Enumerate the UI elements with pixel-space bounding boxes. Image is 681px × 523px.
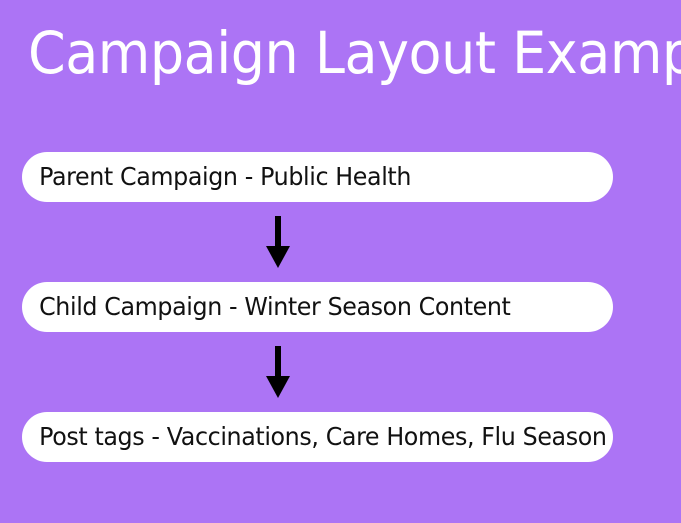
arrow-stem — [275, 346, 281, 378]
slide-canvas: Campaign Layout Example Parent Campaign … — [0, 0, 681, 523]
flow-node-parent-campaign[interactable]: Parent Campaign - Public Health — [22, 152, 613, 202]
flow-diagram: Parent Campaign - Public Health Child Ca… — [22, 152, 613, 462]
flow-connector-1 — [22, 202, 613, 282]
arrow-down-icon — [266, 216, 290, 268]
flow-node-label: Child Campaign - Winter Season Content — [22, 292, 510, 322]
flow-node-child-campaign[interactable]: Child Campaign - Winter Season Content — [22, 282, 613, 332]
flow-node-label: Parent Campaign - Public Health — [22, 162, 411, 192]
flow-node-post-tags[interactable]: Post tags - Vaccinations, Care Homes, Fl… — [22, 412, 613, 462]
flow-connector-2 — [22, 332, 613, 412]
arrow-stem — [275, 216, 281, 248]
flow-node-label: Post tags - Vaccinations, Care Homes, Fl… — [22, 422, 607, 452]
arrow-head — [266, 376, 290, 398]
arrow-head — [266, 246, 290, 268]
arrow-down-icon — [266, 346, 290, 398]
page-title: Campaign Layout Example — [28, 18, 623, 88]
